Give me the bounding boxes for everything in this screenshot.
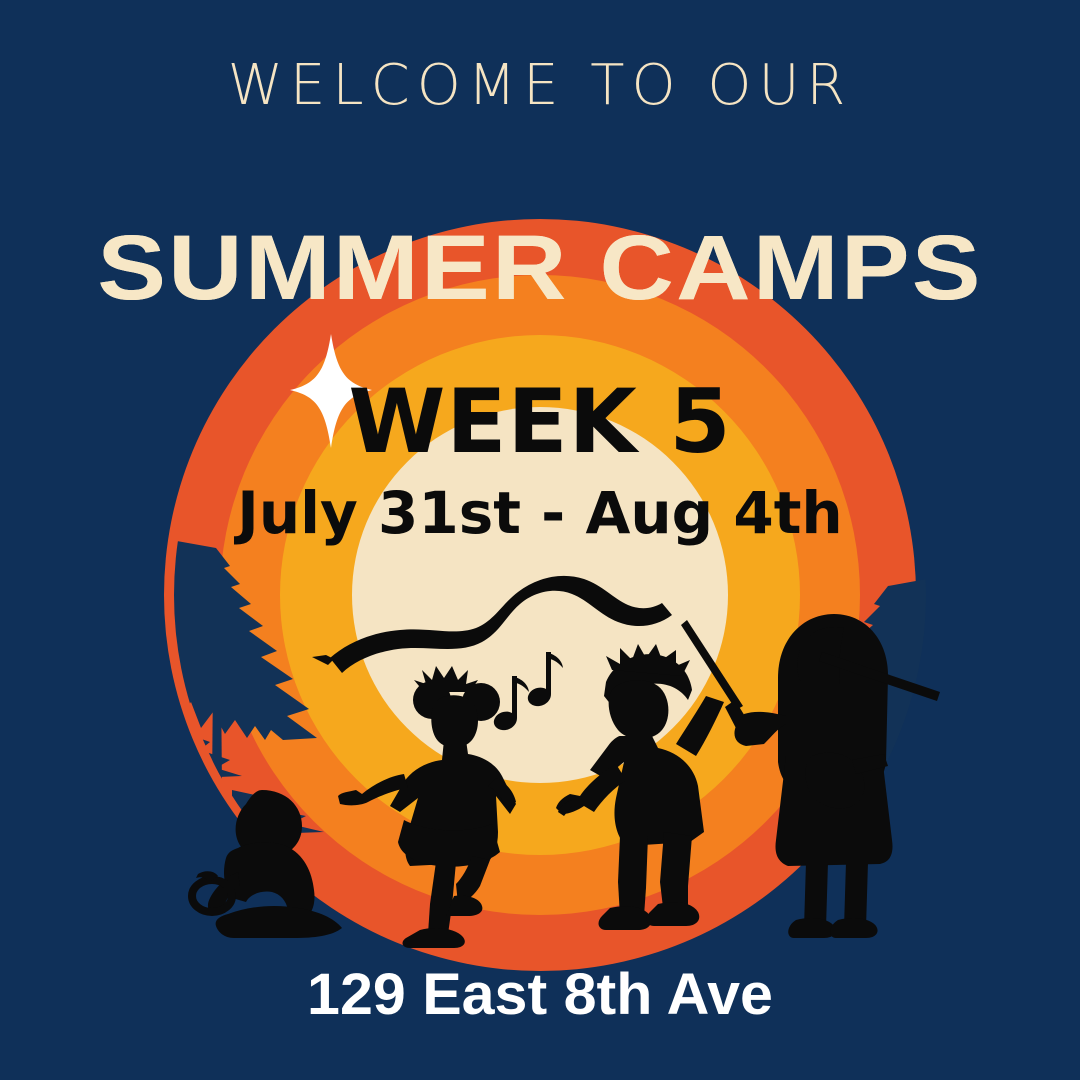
address-line: 129 East 8th Ave — [0, 966, 1080, 1024]
date-range: July 31st - Aug 4th — [0, 484, 1080, 542]
week-label: WEEK 5 — [0, 378, 1080, 466]
poster-canvas: WELCOME TO OUR SUMMER CAMPS WEEK 5 July … — [0, 0, 1080, 1080]
page-title: SUMMER CAMPS — [0, 222, 1080, 314]
welcome-heading: WELCOME TO OUR — [0, 58, 1080, 114]
